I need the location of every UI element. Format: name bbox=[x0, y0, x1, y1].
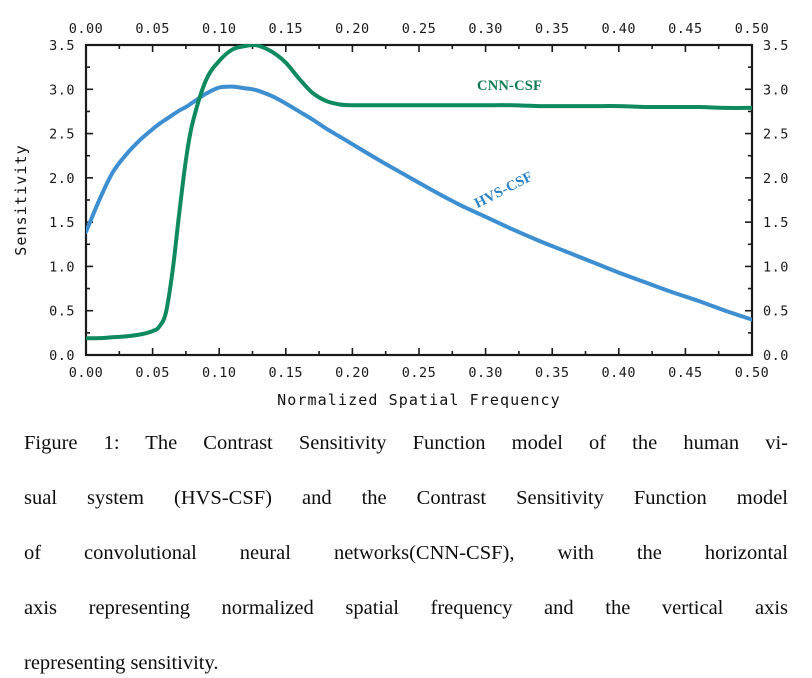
caption-line: sual system (HVS-CSF) and the Contrast S… bbox=[24, 485, 788, 540]
y-axis-right-tick-label: 3.0 bbox=[763, 82, 789, 98]
x-axis-tick-label: 0.05 bbox=[135, 365, 170, 381]
x-axis-tick-label: 0.35 bbox=[535, 365, 570, 381]
x-axis-top-tick-label: 0.15 bbox=[269, 21, 304, 37]
caption-line: Figure 1: The Contrast Sensitivity Funct… bbox=[24, 430, 788, 485]
y-axis-tick-label: 2.0 bbox=[49, 171, 75, 187]
x-axis-tick-label: 0.20 bbox=[335, 365, 370, 381]
series-label-cnn-csf: CNN-CSF bbox=[477, 78, 542, 94]
y-axis-tick-label: 1.5 bbox=[49, 215, 75, 231]
caption-line: representing sensitivity. bbox=[24, 650, 788, 678]
x-axis-tick-label: 0.30 bbox=[468, 365, 503, 381]
figure-caption: Figure 1: The Contrast Sensitivity Funct… bbox=[24, 430, 788, 678]
x-axis-top-tick-label: 0.10 bbox=[202, 21, 237, 37]
y-axis-right-tick-label: 0.5 bbox=[763, 304, 789, 320]
y-axis-tick-label: 3.5 bbox=[49, 38, 75, 54]
x-axis-tick-label: 0.25 bbox=[402, 365, 437, 381]
y-axis-right-tick-label: 2.5 bbox=[763, 127, 789, 143]
x-axis-top-tick-label: 0.30 bbox=[468, 21, 503, 37]
y-axis-tick-label: 2.5 bbox=[49, 127, 75, 143]
x-axis-title: Normalized Spatial Frequency bbox=[277, 391, 561, 409]
y-axis-right-tick-label: 0.0 bbox=[763, 348, 789, 364]
y-axis-right-tick-label: 1.0 bbox=[763, 259, 789, 275]
y-axis-tick-label: 0.5 bbox=[49, 304, 75, 320]
x-axis-tick-label: 0.15 bbox=[269, 365, 304, 381]
x-axis-tick-label: 0.45 bbox=[668, 365, 703, 381]
csf-line-chart: 0.000.000.050.050.100.100.150.150.200.20… bbox=[0, 0, 812, 420]
y-axis-right-tick-label: 2.0 bbox=[763, 171, 789, 187]
x-axis-tick-label: 0.40 bbox=[602, 365, 637, 381]
caption-line: of convolutional neural networks(CNN-CSF… bbox=[24, 540, 788, 595]
y-axis-right-tick-label: 3.5 bbox=[763, 38, 789, 54]
figure-page: 0.000.000.050.050.100.100.150.150.200.20… bbox=[0, 0, 812, 607]
x-axis-tick-label: 0.10 bbox=[202, 365, 237, 381]
y-axis-right-tick-label: 1.5 bbox=[763, 215, 789, 231]
x-axis-top-tick-label: 0.25 bbox=[402, 21, 437, 37]
x-axis-top-tick-label: 0.50 bbox=[735, 21, 770, 37]
chart-background bbox=[0, 0, 812, 420]
x-axis-top-tick-label: 0.20 bbox=[335, 21, 370, 37]
chart-figure: 0.000.000.050.050.100.100.150.150.200.20… bbox=[0, 0, 812, 420]
x-axis-tick-label: 0.00 bbox=[69, 365, 104, 381]
x-axis-top-tick-label: 0.40 bbox=[602, 21, 637, 37]
x-axis-top-tick-label: 0.35 bbox=[535, 21, 570, 37]
y-axis-tick-label: 0.0 bbox=[49, 348, 75, 364]
x-axis-tick-label: 0.50 bbox=[735, 365, 770, 381]
y-axis-tick-label: 1.0 bbox=[49, 259, 75, 275]
caption-line: axis representing normalized spatial fre… bbox=[24, 595, 788, 650]
x-axis-top-tick-label: 0.00 bbox=[69, 21, 104, 37]
x-axis-top-tick-label: 0.05 bbox=[135, 21, 170, 37]
x-axis-top-tick-label: 0.45 bbox=[668, 21, 703, 37]
y-axis-title: Sensitivity bbox=[12, 144, 30, 255]
y-axis-tick-label: 3.0 bbox=[49, 82, 75, 98]
